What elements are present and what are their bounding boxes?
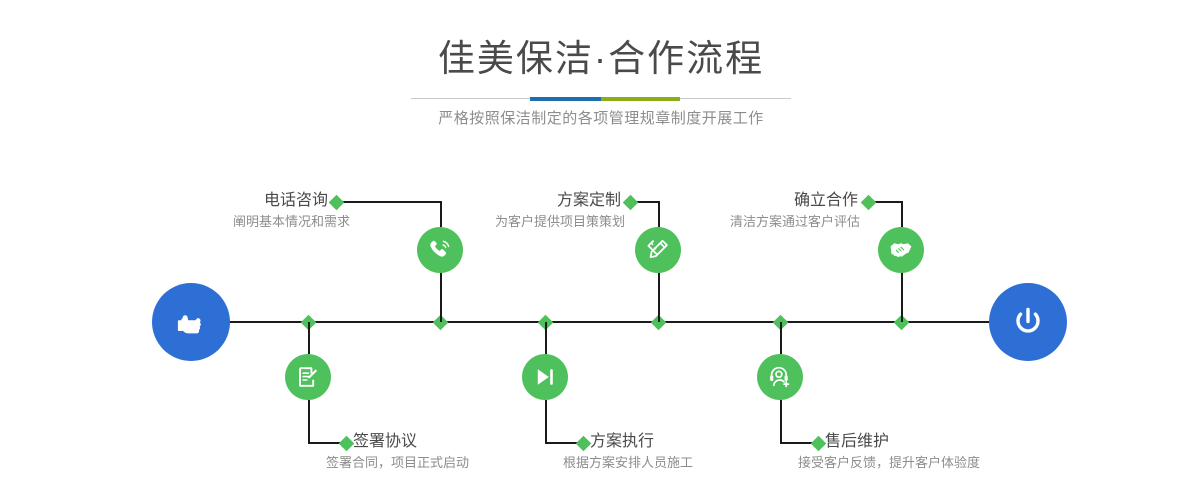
step-node-6 <box>811 436 827 452</box>
step-icon-2 <box>285 354 331 400</box>
page-header: 佳美保洁·合作流程 严格按照保洁制定的各项管理规章制度开展工作 <box>0 0 1202 150</box>
title-divider <box>411 97 791 101</box>
connector-stem-6-lower <box>780 400 782 443</box>
divider-segment-green <box>601 97 680 101</box>
connector-stem-2-lower <box>308 400 310 443</box>
flow-end-node <box>989 283 1067 361</box>
connector-stem-6 <box>780 322 782 354</box>
step-icon-5 <box>878 227 924 273</box>
step-node-1 <box>329 195 345 211</box>
connector-stem-2 <box>308 322 310 354</box>
page-subtitle: 严格按照保洁制定的各项管理规章制度开展工作 <box>0 107 1202 131</box>
step-label-1: 电话咨询 <box>170 190 328 212</box>
step-desc-3: 为客户提供项目策策划 <box>400 212 625 232</box>
step-label-6: 售后维护 <box>825 431 889 453</box>
step-icon-1 <box>417 227 463 273</box>
play-skip-icon <box>532 364 558 390</box>
step-node-2 <box>339 436 355 452</box>
pointing-hand-icon <box>170 301 212 343</box>
step-node-3 <box>623 195 639 211</box>
phone-call-icon <box>427 237 453 263</box>
step-desc-1: 阐明基本情况和需求 <box>110 212 350 232</box>
connector-stem-4-lower <box>545 400 547 443</box>
connector-stem-1 <box>440 272 442 322</box>
handshake-icon <box>888 237 914 263</box>
step-node-4 <box>576 436 592 452</box>
document-edit-icon <box>295 364 321 390</box>
page-title: 佳美保洁·合作流程 <box>0 36 1202 82</box>
connector-stem-5-upper <box>901 201 903 227</box>
step-label-2: 签署协议 <box>353 431 417 453</box>
connector-arm-1 <box>337 201 441 203</box>
connector-stem-3 <box>658 272 660 322</box>
step-desc-2: 签署合同，项目正式启动 <box>326 453 469 473</box>
timeline-axis <box>155 321 1045 323</box>
step-desc-6: 接受客户反馈，提升客户体验度 <box>798 453 980 473</box>
step-label-4: 方案执行 <box>590 431 654 453</box>
step-desc-5: 清洁方案通过客户评估 <box>635 212 860 232</box>
step-icon-3 <box>635 227 681 273</box>
step-node-5 <box>861 195 877 211</box>
step-label-5: 确立合作 <box>700 190 858 212</box>
customer-support-icon <box>767 364 793 390</box>
step-label-3: 方案定制 <box>463 190 621 212</box>
connector-stem-4 <box>545 322 547 354</box>
pencil-ruler-icon <box>645 237 671 263</box>
step-desc-4: 根据方案安排人员施工 <box>563 453 693 473</box>
connector-stem-5 <box>901 272 903 322</box>
step-icon-6 <box>757 354 803 400</box>
process-flow-diagram: 电话咨询 阐明基本情况和需求 签署协议 签署合同，项目正式启动 <box>0 150 1202 502</box>
flow-start-node <box>152 283 230 361</box>
step-icon-4 <box>522 354 568 400</box>
power-icon <box>1007 301 1049 343</box>
divider-segment-blue <box>530 97 601 101</box>
